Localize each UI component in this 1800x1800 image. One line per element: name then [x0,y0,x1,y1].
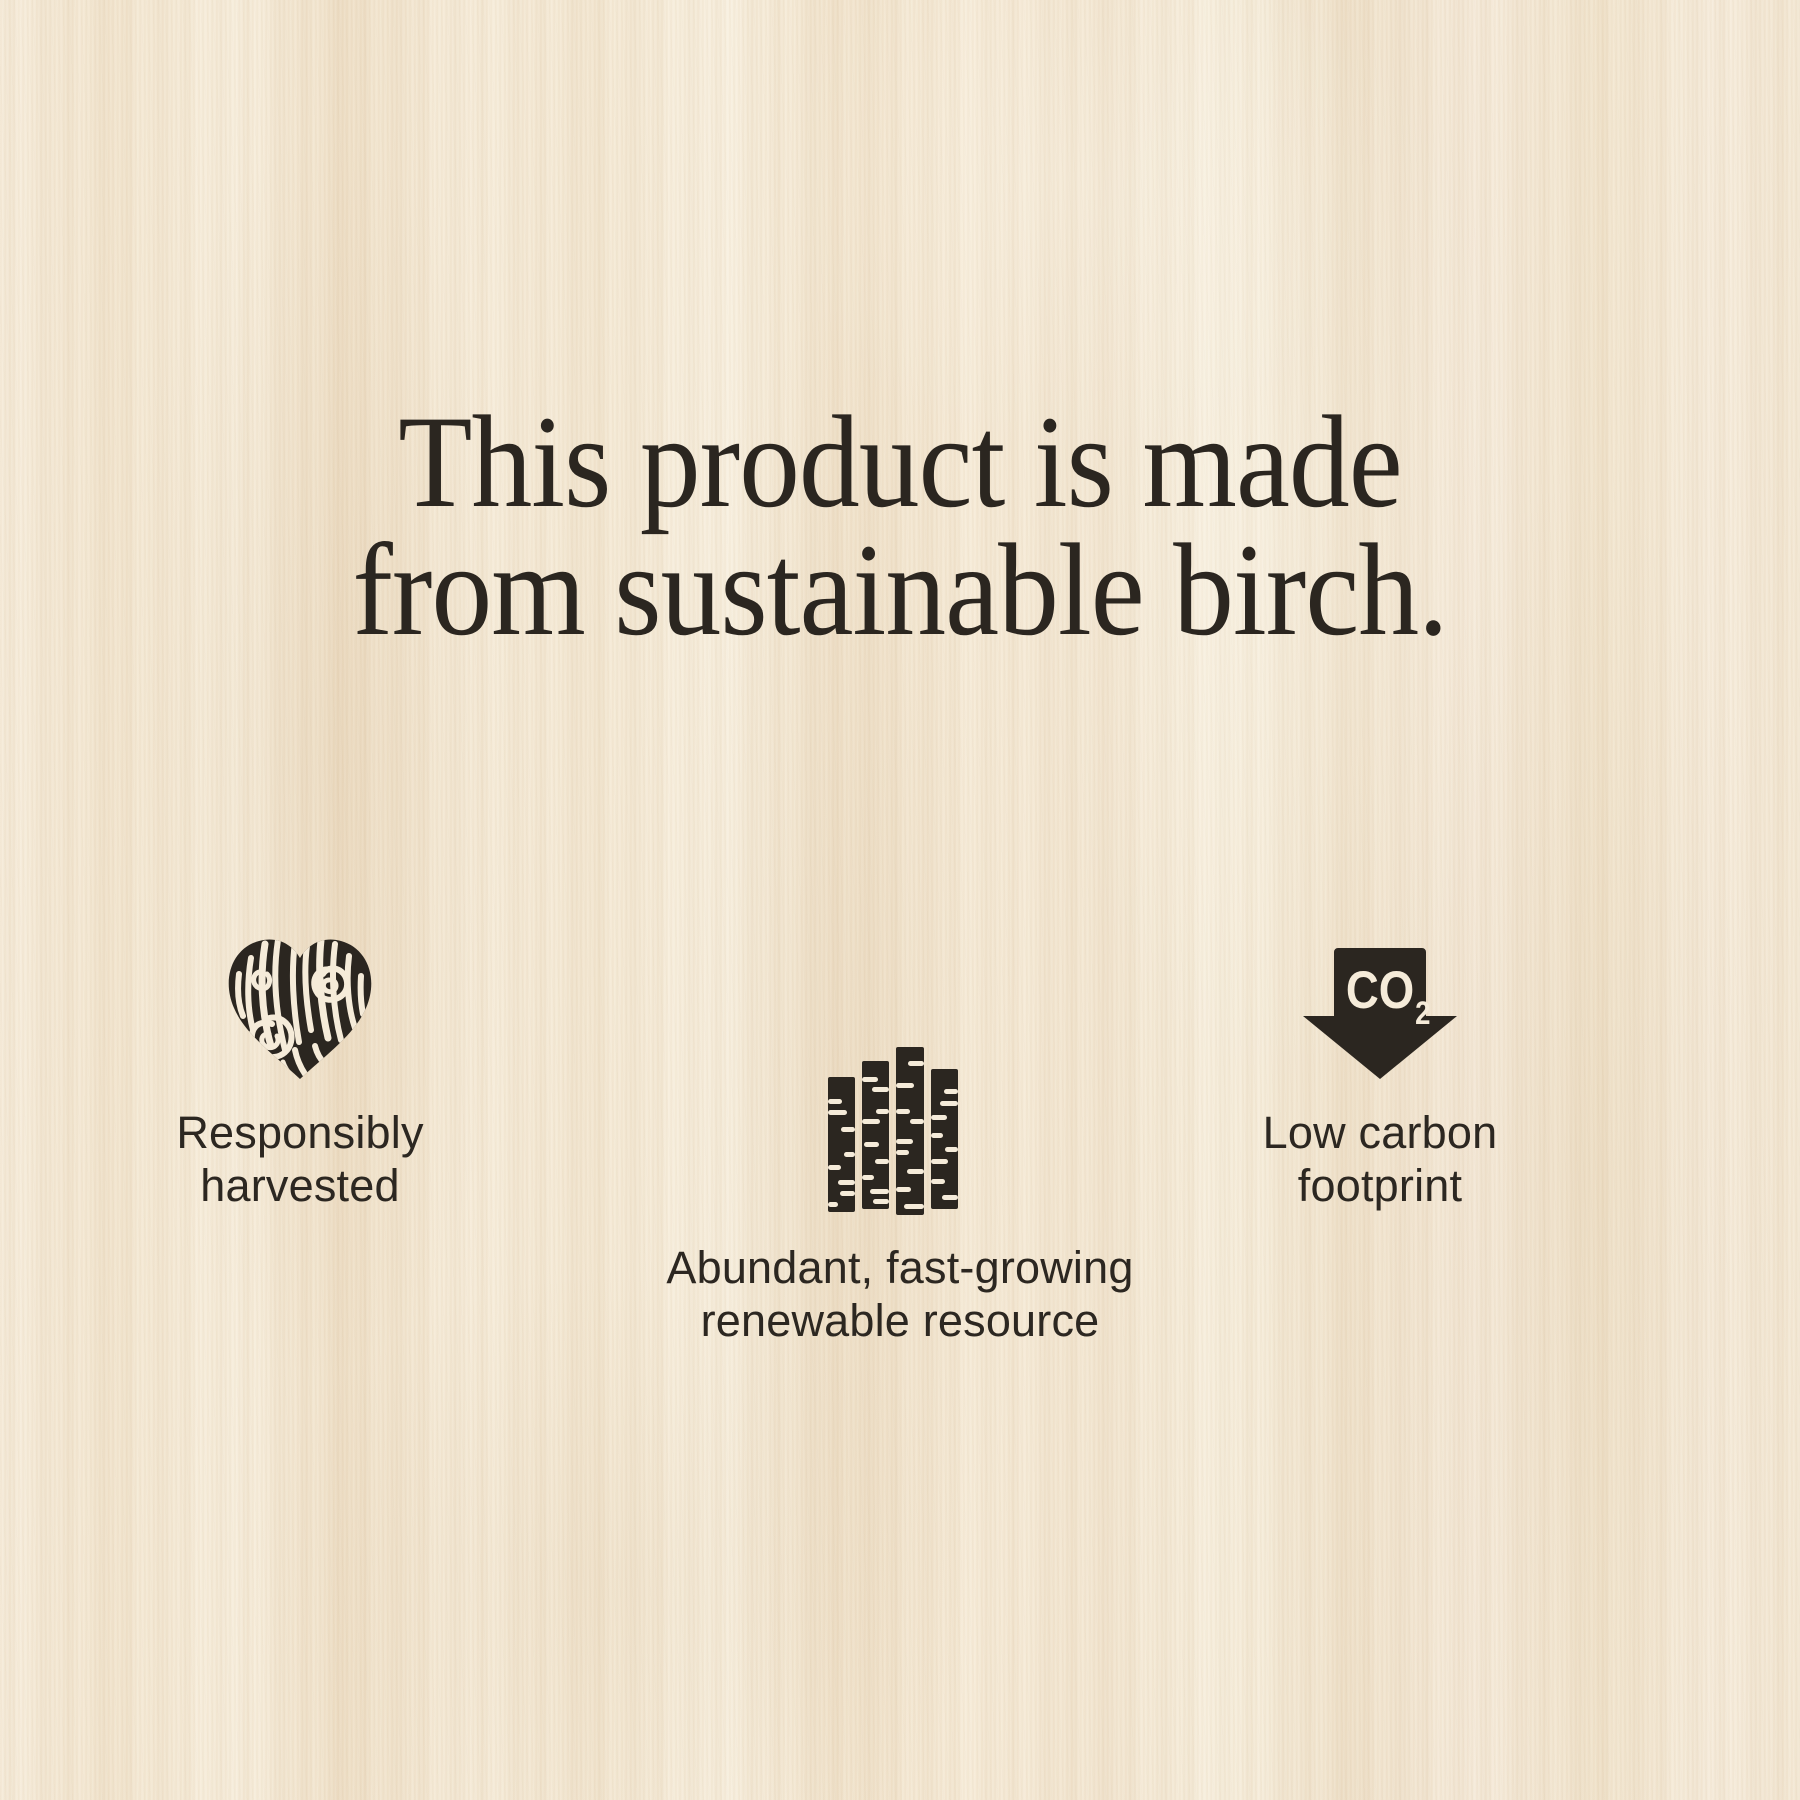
feature-caption: Low carbon footprint [1030,1106,1730,1212]
feature-low-carbon-footprint: CO 2 Low carbon footprint [1030,900,1730,1212]
page-title: This product is made from sustainable bi… [72,398,1728,654]
birch-trunks-icon [826,1047,974,1215]
icon-container [60,900,540,1080]
co2-down-arrow-icon: CO 2 [1299,948,1461,1080]
icon-container: CO 2 [1030,900,1730,1080]
feature-caption: Abundant, fast-growing renewable resourc… [590,1241,1210,1347]
co2-label: CO [1346,961,1414,1020]
feature-caption: Responsibly harvested [60,1106,540,1212]
feature-responsibly-harvested: Responsibly harvested [60,900,540,1212]
sustainable-birch-poster: This product is made from sustainable bi… [0,0,1800,1800]
feature-columns: Responsibly harvested [0,900,1800,1420]
svg-text:2: 2 [1415,996,1430,1031]
wood-grain-heart-icon [225,938,375,1080]
